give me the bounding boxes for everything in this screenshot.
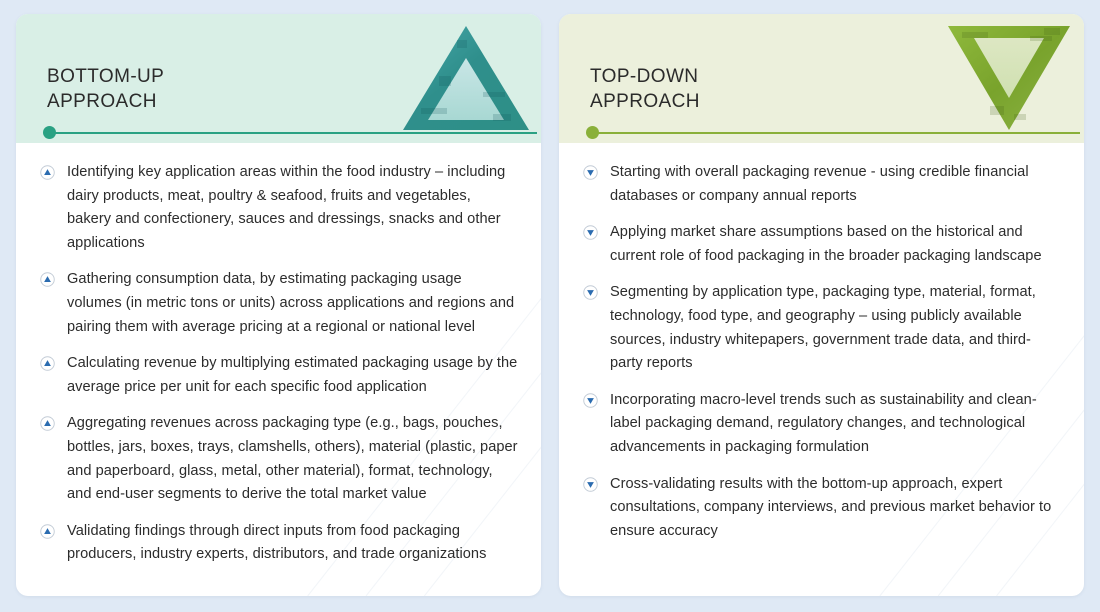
- bottom-up-card-header: BOTTOM-UP APPROACH: [16, 14, 541, 143]
- header-rule: [590, 132, 1080, 134]
- list-item-text: Segmenting by application type, packagin…: [610, 281, 1062, 375]
- top-down-bullet-body: Starting with overall packaging revenue …: [559, 143, 1084, 596]
- list-item: Starting with overall packaging revenue …: [583, 161, 1062, 208]
- triangle-up-bullet-icon: [40, 165, 55, 180]
- bottom-up-bullet-list: Identifying key application areas within…: [40, 161, 519, 567]
- triangle-down-bullet-icon: [583, 393, 598, 408]
- list-item-text: Incorporating macro-level trends such as…: [610, 389, 1062, 460]
- list-item-text: Applying market share assumptions based …: [610, 221, 1062, 268]
- triangle-up-bullet-icon: [40, 356, 55, 371]
- list-item-text: Starting with overall packaging revenue …: [610, 161, 1062, 208]
- bottom-up-approach-card: BOTTOM-UP APPROACH: [16, 14, 541, 596]
- header-rule: [47, 132, 537, 134]
- triangle-up-bullet-icon: [40, 524, 55, 539]
- list-item: Calculating revenue by multiplying estim…: [40, 352, 519, 399]
- list-item-text: Calculating revenue by multiplying estim…: [67, 352, 519, 399]
- list-item: Applying market share assumptions based …: [583, 221, 1062, 268]
- bottom-up-bullet-body: Identifying key application areas within…: [16, 143, 541, 596]
- list-item-text: Validating findings through direct input…: [67, 520, 519, 567]
- list-item-text: Identifying key application areas within…: [67, 161, 519, 255]
- list-item: Segmenting by application type, packagin…: [583, 281, 1062, 375]
- triangle-up-icon: [401, 22, 531, 134]
- list-item: Aggregating revenues across packaging ty…: [40, 412, 519, 506]
- top-down-approach-card: TOP-DOWN APPROACH: [559, 14, 1084, 596]
- list-item-text: Gathering consumption data, by estimatin…: [67, 268, 519, 339]
- page-title: TOP-DOWN APPROACH: [590, 64, 700, 114]
- list-item: Gathering consumption data, by estimatin…: [40, 268, 519, 339]
- top-down-bullet-list: Starting with overall packaging revenue …: [583, 161, 1062, 543]
- triangle-down-bullet-icon: [583, 165, 598, 180]
- header-rule-dot: [586, 126, 599, 139]
- page-title: BOTTOM-UP APPROACH: [47, 64, 164, 114]
- list-item: Validating findings through direct input…: [40, 520, 519, 567]
- methodology-comparison-page: BOTTOM-UP APPROACH: [0, 0, 1100, 612]
- top-down-card-header: TOP-DOWN APPROACH: [559, 14, 1084, 143]
- list-item-text: Cross-validating results with the bottom…: [610, 473, 1062, 544]
- list-item: Cross-validating results with the bottom…: [583, 473, 1062, 544]
- triangle-down-bullet-icon: [583, 225, 598, 240]
- triangle-down-icon: [944, 22, 1074, 134]
- list-item: Incorporating macro-level trends such as…: [583, 389, 1062, 460]
- list-item: Identifying key application areas within…: [40, 161, 519, 255]
- header-rule-dot: [43, 126, 56, 139]
- triangle-down-bullet-icon: [583, 285, 598, 300]
- list-item-text: Aggregating revenues across packaging ty…: [67, 412, 519, 506]
- triangle-up-bullet-icon: [40, 416, 55, 431]
- triangle-down-bullet-icon: [583, 477, 598, 492]
- triangle-up-bullet-icon: [40, 272, 55, 287]
